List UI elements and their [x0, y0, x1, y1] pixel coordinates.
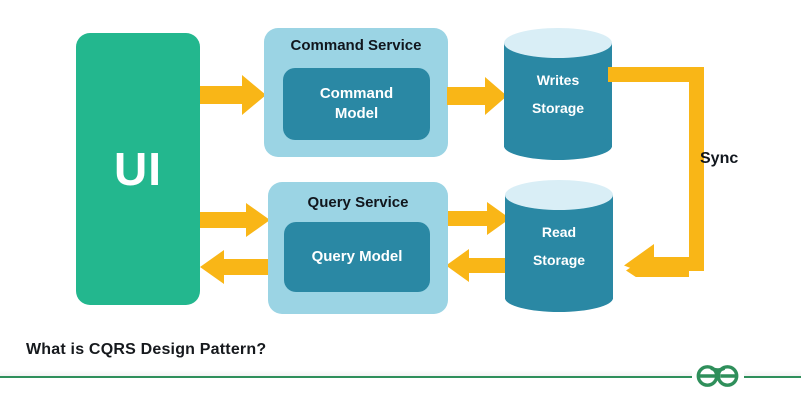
query-service-title: Query Service — [268, 195, 448, 212]
command-service-panel: Command Service Command Model — [264, 28, 448, 157]
read-storage-bottom — [505, 284, 613, 312]
read-storage-cylinder: Read Storage — [505, 180, 613, 312]
geeksforgeeks-logo — [692, 358, 744, 394]
read-storage-top — [505, 180, 613, 210]
sync-connector-arrow — [608, 62, 718, 277]
sync-label: Sync — [700, 150, 738, 168]
query-model-label: Query Model — [306, 247, 409, 267]
read-storage-label: Read Storage — [505, 218, 613, 274]
query-service-to-ui-arrow — [200, 250, 270, 284]
page-caption: What is CQRS Design Pattern? — [26, 341, 266, 359]
command-model-box: Command Model — [283, 68, 430, 140]
writes-storage-label: Writes Storage — [504, 66, 612, 122]
ui-block: UI — [76, 33, 200, 305]
footer-rule — [0, 376, 801, 378]
ui-to-command-service-arrow — [200, 75, 266, 115]
writes-storage-top — [504, 28, 612, 58]
command-service-to-writes-storage-arrow — [447, 77, 507, 115]
diagram-canvas: UI Command Service Command Model Writes … — [0, 0, 801, 401]
query-model-box: Query Model — [284, 222, 430, 292]
read-storage-to-query-service-arrow — [446, 249, 510, 282]
command-model-label: Command Model — [314, 84, 399, 125]
ui-block-label: UI — [76, 146, 200, 192]
writes-storage-bottom — [504, 132, 612, 160]
ui-to-query-service-arrow — [200, 203, 270, 237]
query-service-to-read-storage-arrow — [446, 202, 510, 235]
query-service-panel: Query Service Query Model — [268, 182, 448, 314]
writes-storage-cylinder: Writes Storage — [504, 28, 612, 160]
command-service-title: Command Service — [264, 38, 448, 55]
